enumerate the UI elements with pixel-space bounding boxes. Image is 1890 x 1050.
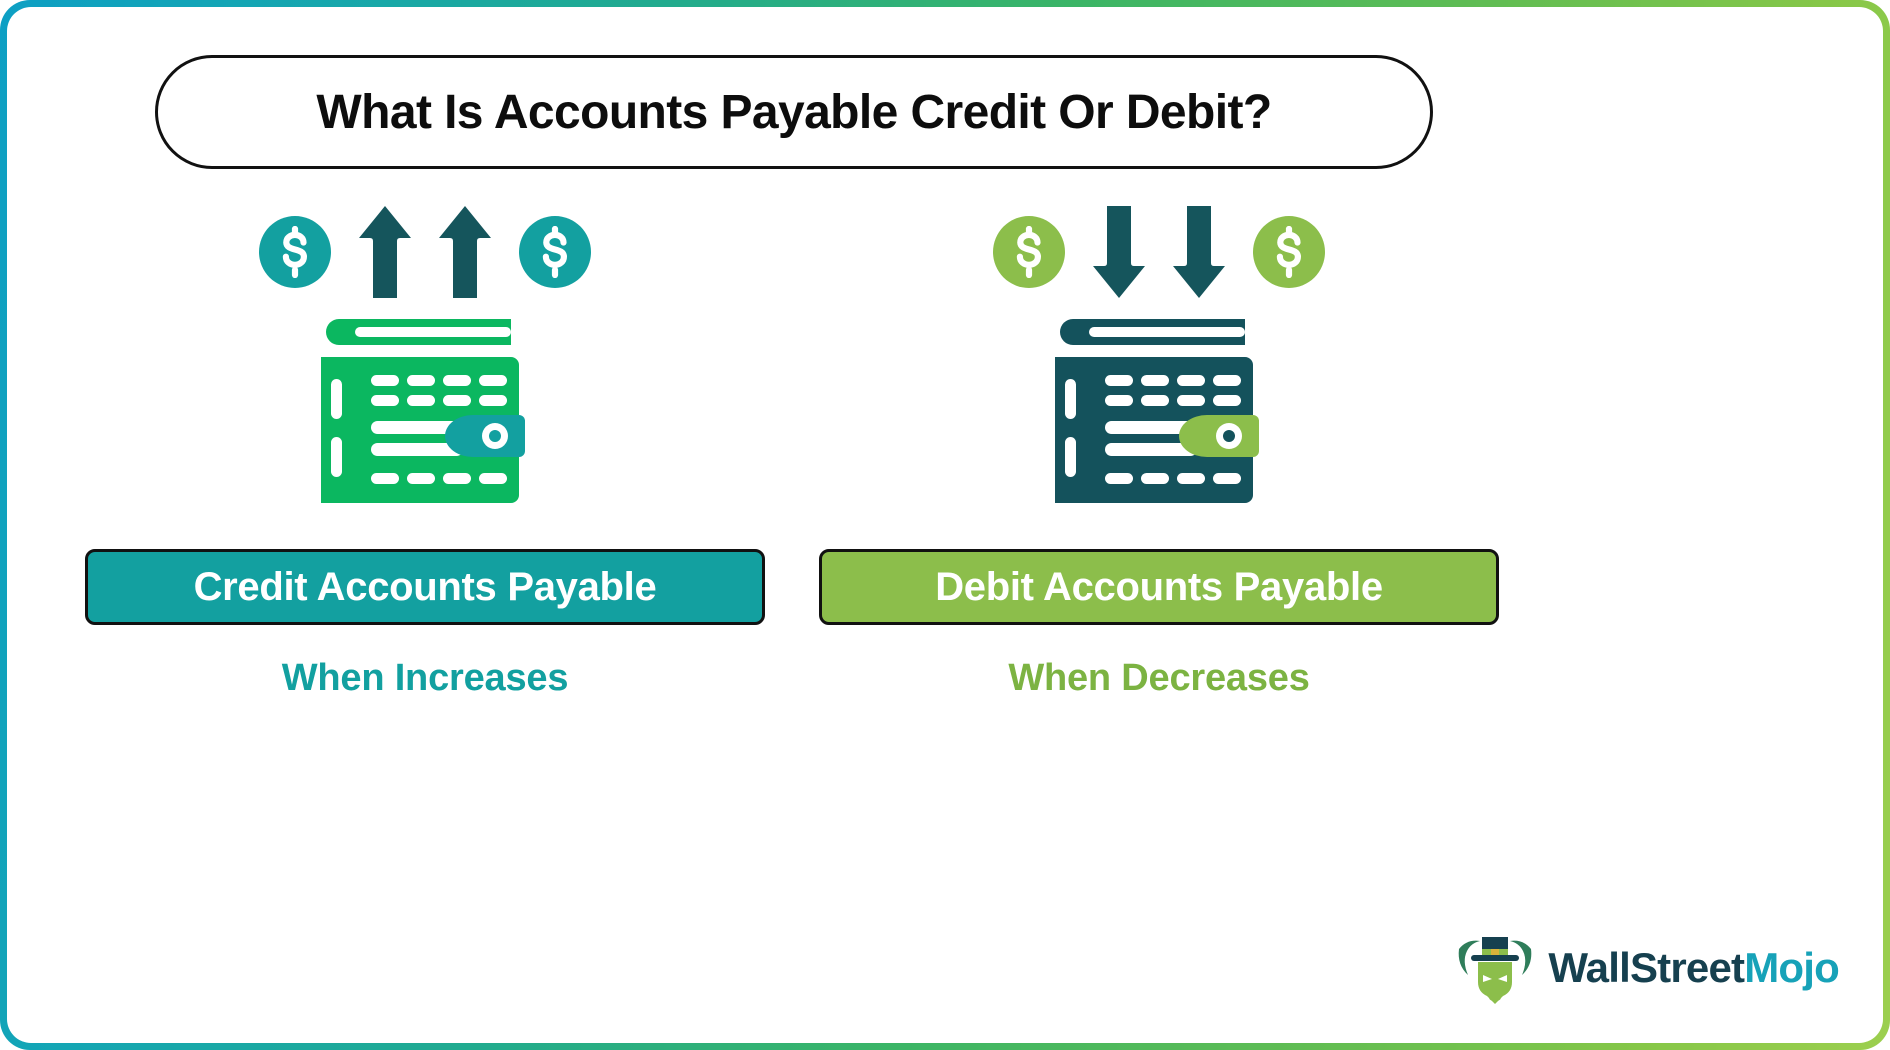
- credit-caption: When Increases: [55, 657, 795, 700]
- credit-accounts-payable-button[interactable]: Credit Accounts Payable: [85, 549, 765, 625]
- arrow-up-icon: [439, 206, 491, 298]
- credit-button-label: Credit Accounts Payable: [194, 565, 657, 610]
- credit-icon-row: [55, 197, 795, 307]
- title-pill: What Is Accounts Payable Credit Or Debit…: [155, 55, 1433, 169]
- arrow-down-icon: [1093, 206, 1145, 298]
- credit-column: Credit Accounts Payable When Increases: [55, 197, 795, 700]
- brand-name-part1: WallStreet: [1548, 944, 1744, 991]
- brand-name: WallStreetMojo: [1548, 944, 1839, 992]
- bull-with-tophat-logo-icon: [1456, 931, 1534, 1005]
- dollar-coin-icon: [519, 216, 591, 288]
- canvas: What Is Accounts Payable Credit Or Debit…: [7, 7, 1883, 1043]
- outer-gradient-frame: What Is Accounts Payable Credit Or Debit…: [0, 0, 1890, 1050]
- debit-column: Debit Accounts Payable When Decreases: [789, 197, 1529, 700]
- debit-icon-row: [789, 197, 1529, 307]
- credit-wallet-wrap: [55, 313, 795, 513]
- dollar-coin-icon: [1253, 216, 1325, 288]
- page-title: What Is Accounts Payable Credit Or Debit…: [316, 85, 1271, 140]
- debit-button-label: Debit Accounts Payable: [935, 565, 1383, 610]
- dollar-coin-icon: [259, 216, 331, 288]
- arrow-up-icon: [359, 206, 411, 298]
- brand-logo: WallStreetMojo: [1456, 931, 1839, 1005]
- money-wallet-icon: [319, 313, 531, 509]
- brand-name-part2: Mojo: [1744, 944, 1839, 991]
- dollar-coin-icon: [993, 216, 1065, 288]
- debit-accounts-payable-button[interactable]: Debit Accounts Payable: [819, 549, 1499, 625]
- arrow-down-icon: [1173, 206, 1225, 298]
- money-wallet-icon: [1053, 313, 1265, 509]
- debit-wallet-wrap: [789, 313, 1529, 513]
- debit-caption: When Decreases: [789, 657, 1529, 700]
